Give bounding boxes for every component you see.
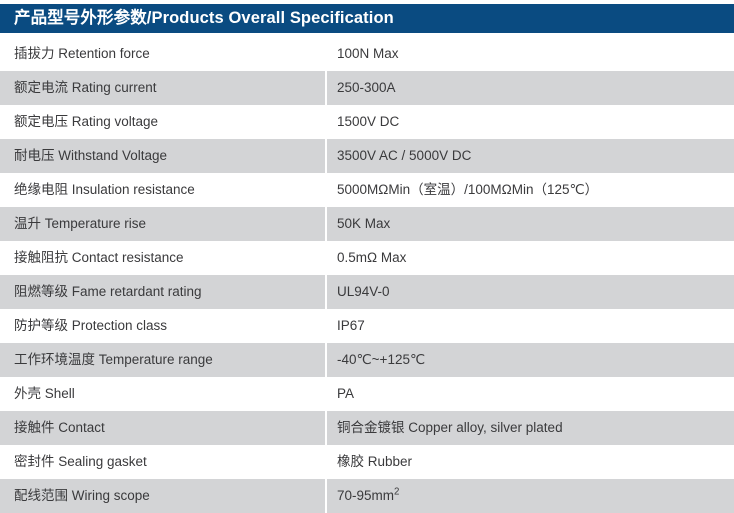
spec-label-cell: 外壳 Shell bbox=[0, 377, 323, 411]
table-row: 温升 Temperature rise50K Max bbox=[0, 207, 734, 241]
spec-label-cell: 绝缘电阻 Insulation resistance bbox=[0, 173, 323, 207]
column-divider bbox=[323, 445, 337, 479]
spec-value-cell: PA bbox=[337, 377, 734, 411]
table-row: 额定电流 Rating current250-300A bbox=[0, 71, 734, 105]
table-row: 耐电压 Withstand Voltage3500V AC / 5000V DC bbox=[0, 139, 734, 173]
table-row: 插拔力 Retention force100N Max bbox=[0, 37, 734, 71]
column-divider bbox=[323, 173, 337, 207]
spec-label-cell: 配线范围 Wiring scope bbox=[0, 479, 323, 513]
spec-label-cell: 工作环境温度 Temperature range bbox=[0, 343, 323, 377]
spec-label-cell: 温升 Temperature rise bbox=[0, 207, 323, 241]
specification-sheet: 产品型号外形参数/Products Overall Specification … bbox=[0, 0, 734, 513]
column-divider bbox=[323, 71, 337, 105]
table-row: 密封件 Sealing gasket橡胶 Rubber bbox=[0, 445, 734, 479]
column-divider bbox=[323, 309, 337, 343]
table-row: 防护等级 Protection classIP67 bbox=[0, 309, 734, 343]
column-divider bbox=[323, 139, 337, 173]
column-divider bbox=[323, 411, 337, 445]
table-row: 配线范围 Wiring scope70-95mm2 bbox=[0, 479, 734, 513]
table-row: 阻燃等级 Fame retardant ratingUL94V-0 bbox=[0, 275, 734, 309]
spec-value-cell: 100N Max bbox=[337, 37, 734, 71]
table-row: 额定电压 Rating voltage1500V DC bbox=[0, 105, 734, 139]
column-divider bbox=[323, 105, 337, 139]
table-row: 绝缘电阻 Insulation resistance5000MΩMin（室温）/… bbox=[0, 173, 734, 207]
table-row: 外壳 ShellPA bbox=[0, 377, 734, 411]
spec-value-cell: -40℃~+125℃ bbox=[337, 343, 734, 377]
table-row: 接触阻抗 Contact resistance0.5mΩ Max bbox=[0, 241, 734, 275]
column-divider bbox=[323, 479, 337, 513]
spec-value-cell: 3500V AC / 5000V DC bbox=[337, 139, 734, 173]
table-row: 接触件 Contact铜合金镀银 Copper alloy, silver pl… bbox=[0, 411, 734, 445]
spec-label-cell: 接触阻抗 Contact resistance bbox=[0, 241, 323, 275]
page-title: 产品型号外形参数/Products Overall Specification bbox=[14, 10, 394, 27]
table-row: 工作环境温度 Temperature range-40℃~+125℃ bbox=[0, 343, 734, 377]
spec-label-cell: 密封件 Sealing gasket bbox=[0, 445, 323, 479]
column-divider bbox=[323, 343, 337, 377]
spec-value-cell: 1500V DC bbox=[337, 105, 734, 139]
column-divider bbox=[323, 241, 337, 275]
spec-label-cell: 阻燃等级 Fame retardant rating bbox=[0, 275, 323, 309]
spec-label-cell: 耐电压 Withstand Voltage bbox=[0, 139, 323, 173]
spec-header-band: 产品型号外形参数/Products Overall Specification bbox=[0, 4, 734, 33]
spec-label-cell: 防护等级 Protection class bbox=[0, 309, 323, 343]
spec-value-cell: 250-300A bbox=[337, 71, 734, 105]
spec-value-cell: IP67 bbox=[337, 309, 734, 343]
column-divider bbox=[323, 377, 337, 411]
spec-label-cell: 插拔力 Retention force bbox=[0, 37, 323, 71]
spec-value-cell: 0.5mΩ Max bbox=[337, 241, 734, 275]
spec-value-cell: 铜合金镀银 Copper alloy, silver plated bbox=[337, 411, 734, 445]
specification-table: 插拔力 Retention force100N Max额定电流 Rating c… bbox=[0, 37, 734, 513]
spec-value-cell: UL94V-0 bbox=[337, 275, 734, 309]
column-divider bbox=[323, 275, 337, 309]
spec-label-cell: 额定电流 Rating current bbox=[0, 71, 323, 105]
spec-value-cell: 橡胶 Rubber bbox=[337, 445, 734, 479]
spec-value-cell: 5000MΩMin（室温）/100MΩMin（125℃） bbox=[337, 173, 734, 207]
specification-table-body: 插拔力 Retention force100N Max额定电流 Rating c… bbox=[0, 37, 734, 513]
column-divider bbox=[323, 37, 337, 71]
spec-label-cell: 额定电压 Rating voltage bbox=[0, 105, 323, 139]
spec-value-cell: 70-95mm2 bbox=[337, 479, 734, 513]
spec-value-cell: 50K Max bbox=[337, 207, 734, 241]
spec-label-cell: 接触件 Contact bbox=[0, 411, 323, 445]
column-divider bbox=[323, 207, 337, 241]
